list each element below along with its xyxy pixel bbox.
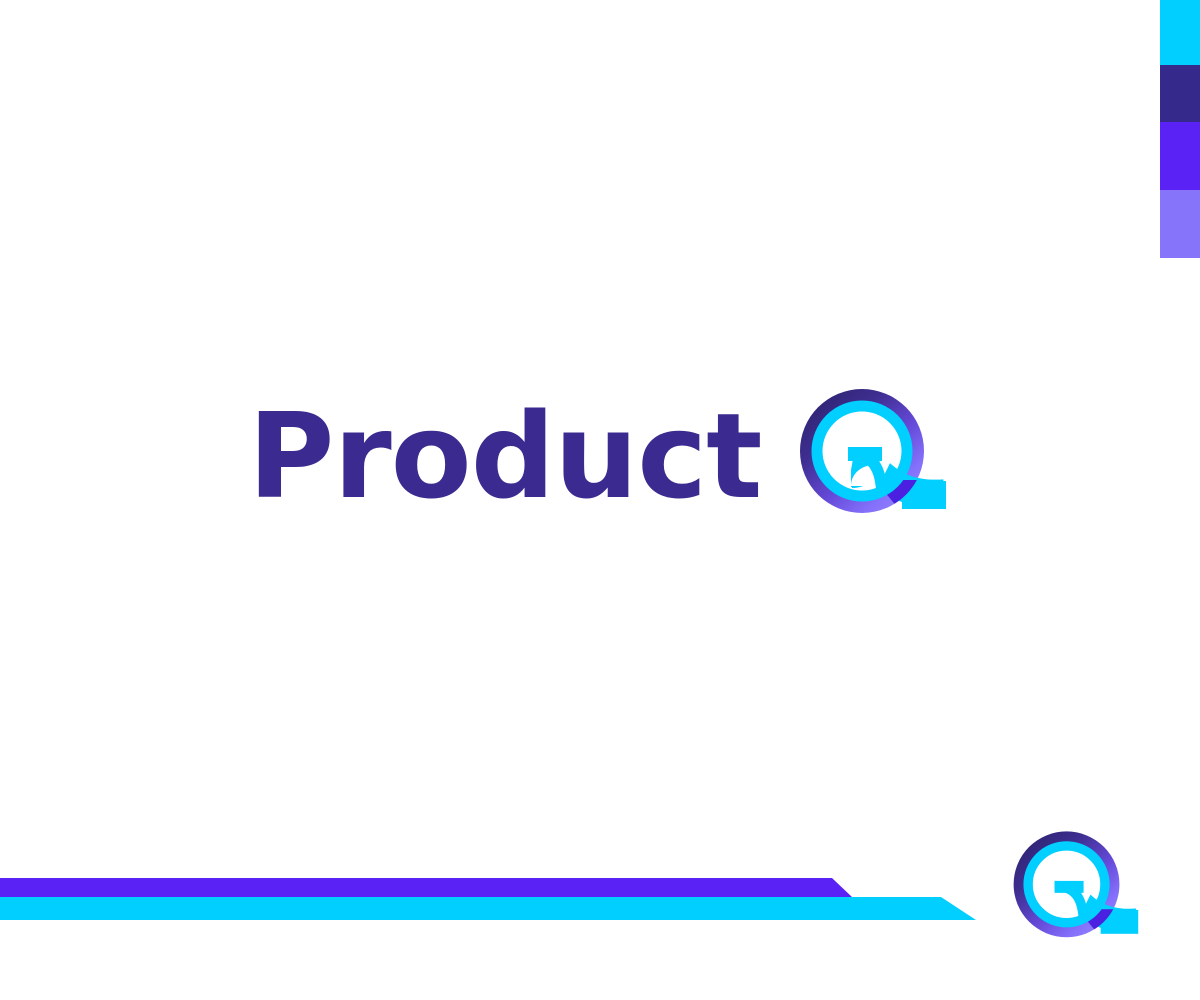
brand-lockup: Product bbox=[248, 385, 948, 535]
swatch-light-violet bbox=[1160, 190, 1200, 258]
swatch-indigo bbox=[1160, 65, 1200, 122]
slide-canvas: Product bbox=[0, 0, 1200, 1000]
corner-q-logo bbox=[1005, 828, 1140, 956]
q-logo-mark bbox=[790, 385, 948, 535]
ribbon-cyan bbox=[0, 897, 976, 920]
wordmark-text: Product bbox=[248, 397, 762, 515]
bottom-accent-ribbons bbox=[0, 878, 1000, 924]
q-leaf-wedge bbox=[848, 447, 887, 489]
brand-name-label: ProductQ bbox=[0, 0, 1, 1]
swatch-cyan bbox=[1160, 0, 1200, 65]
lockup-spacer bbox=[762, 460, 790, 461]
swatch-violet bbox=[1160, 122, 1200, 190]
corner-color-swatches bbox=[1160, 0, 1200, 258]
q-logo-mark-small bbox=[1005, 828, 1140, 956]
ribbon-violet bbox=[0, 878, 852, 897]
